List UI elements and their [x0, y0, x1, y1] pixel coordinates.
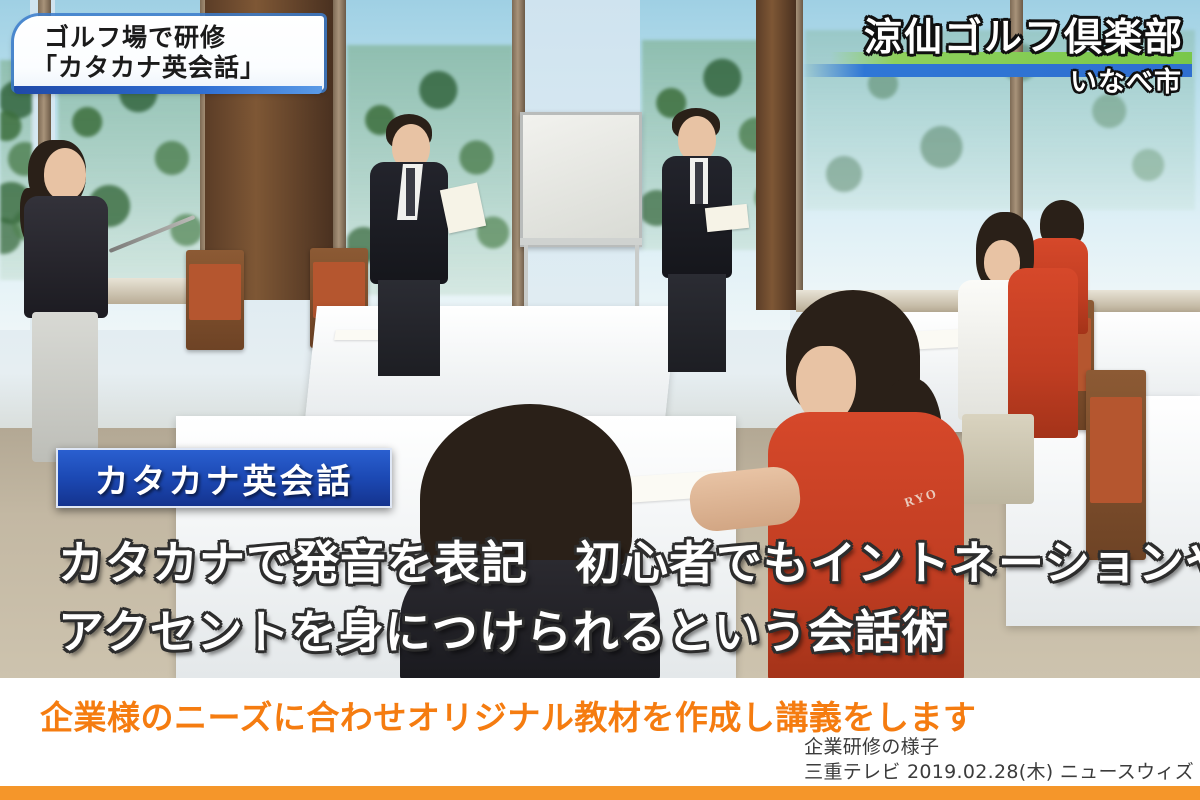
tie: [406, 168, 415, 216]
topic-banner: ゴルフ場で研修 「カタカナ英会話」: [14, 16, 324, 90]
location-overlay: 涼仙ゴルフ倶楽部 いなべ市: [772, 4, 1192, 100]
uniform-vest: [1008, 268, 1078, 438]
footer-accent-bar: [0, 786, 1200, 800]
caption-line-1: カタカナで発音を表記 初心者でもイントネーションや: [58, 527, 1200, 593]
held-paper: [705, 204, 749, 232]
torso: [24, 196, 108, 318]
credit-line-2: 三重テレビ 2019.02.28(木) ニュースウィズ: [804, 760, 1194, 785]
credit-line-1: 企業研修の様子: [804, 735, 1194, 760]
caption-line-2: アクセントを身につけられるという会話術: [58, 596, 949, 662]
topic-banner-line1: ゴルフ場で研修: [44, 23, 324, 54]
whiteboard-tray: [520, 238, 642, 245]
legs: [668, 274, 726, 372]
legs: [378, 280, 440, 376]
footer-area: 企業様のニーズに合わせオリジナル教材を作成し講義をします 企業研修の様子 三重テ…: [0, 678, 1200, 800]
news-video-frame: RYO ゴルフ場で研修 「カタカナ英会話」 涼仙ゴルフ倶楽部 いなべ市 カタカナ…: [0, 0, 1200, 678]
caption-tag-label: カタカナ英会話: [95, 454, 354, 503]
legs: [962, 414, 1034, 504]
head: [44, 148, 86, 200]
legs: [32, 312, 98, 462]
page-root: RYO ゴルフ場で研修 「カタカナ英会話」 涼仙ゴルフ倶楽部 いなべ市 カタカナ…: [0, 0, 1200, 800]
whiteboard: [520, 112, 642, 247]
topic-banner-underline: [14, 86, 322, 94]
source-credit: 企業研修の様子 三重テレビ 2019.02.28(木) ニュースウィズ: [804, 735, 1194, 786]
chair-back-1: [186, 250, 244, 350]
chair-seat-pad: [189, 264, 240, 320]
caption-tag-box: カタカナ英会話: [56, 448, 392, 508]
location-venue-name: 涼仙ゴルフ倶楽部: [864, 6, 1184, 61]
chair-seat-pad: [1090, 397, 1143, 503]
location-city-name: いなべ市: [1070, 60, 1182, 99]
topic-banner-line2: 「カタカナ英会話」: [32, 53, 324, 84]
promo-headline: 企業様のニーズに合わせオリジナル教材を作成し講義をします: [40, 691, 976, 739]
tie: [695, 162, 703, 204]
